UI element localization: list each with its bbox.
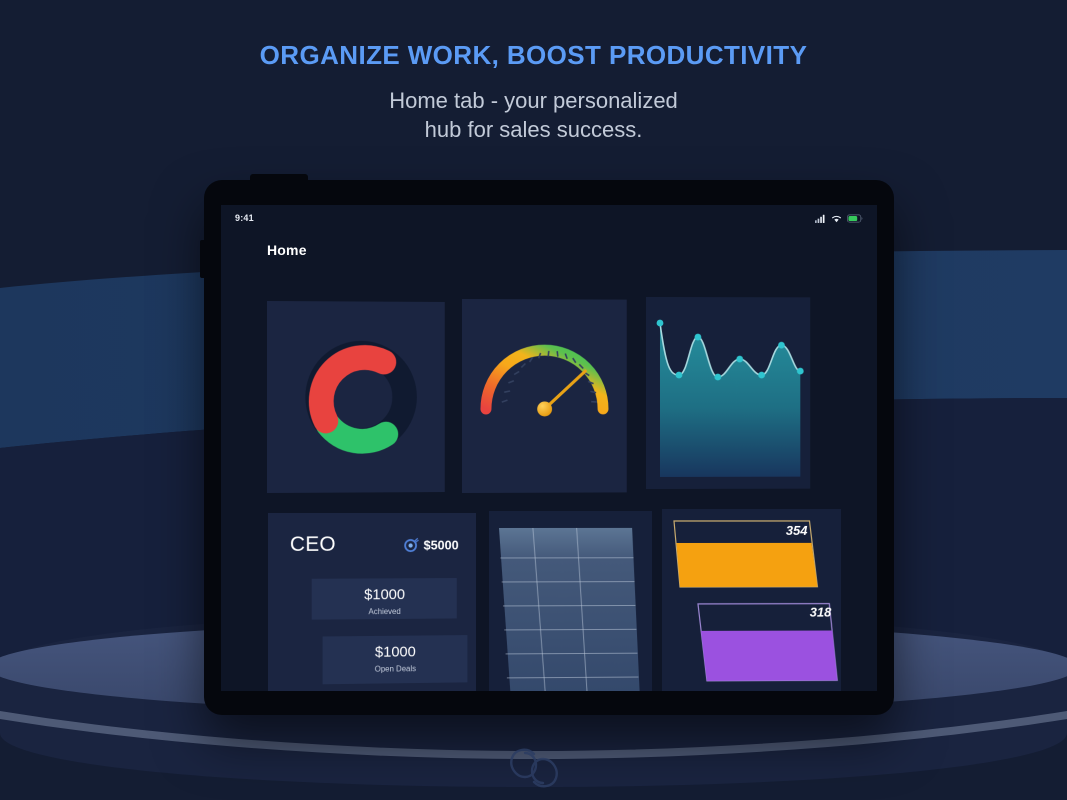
kpi-achieved-value: $1000 — [312, 587, 457, 604]
wifi-icon — [831, 214, 842, 223]
ceo-card-header: CEO $5000 — [290, 533, 459, 557]
gauge-band-arc — [486, 350, 603, 409]
funnel-bar-1-fill — [676, 543, 817, 587]
gauge-chart-card[interactable] — [462, 299, 627, 493]
funnel-chart — [662, 509, 841, 691]
ceo-target-value: $5000 — [424, 537, 459, 552]
tablet-screen: 9:41 — [221, 205, 877, 691]
funnel-bar-2-fill — [701, 631, 837, 681]
funnel-bar-1-value: 354 — [786, 523, 808, 538]
donut-segment-red — [321, 357, 384, 421]
data-table-card[interactable] — [489, 511, 652, 691]
tablet-device: 9:41 — [204, 180, 894, 715]
page-subtitle: Home tab - your personalized hub for sal… — [0, 87, 1067, 144]
subtitle-line-2: hub for sales success. — [0, 116, 1067, 145]
kpi-tile-open-deals[interactable]: $1000 Open Deals — [323, 635, 468, 684]
status-bar: 9:41 — [221, 205, 877, 231]
funnel-chart-card[interactable]: 354 318 — [662, 509, 841, 691]
ceo-role-label: CEO — [290, 533, 336, 557]
dashboard-grid: CEO $5000 $1000 — [221, 263, 877, 691]
area-chart — [646, 297, 810, 489]
funnel-bar-2-value: 318 — [810, 605, 832, 620]
donut-chart-card[interactable] — [267, 301, 445, 493]
gauge-needle — [545, 371, 586, 409]
kpi-achieved-label: Achieved — [312, 606, 457, 616]
data-table-grid — [489, 511, 652, 691]
gauge-chart — [462, 299, 627, 493]
headline-block: ORGANIZE WORK, BOOST PRODUCTIVITY Home t… — [0, 40, 1067, 144]
subtitle-line-1: Home tab - your personalized — [389, 88, 678, 113]
target-icon — [404, 537, 419, 552]
status-clock: 9:41 — [235, 213, 254, 223]
table-body — [499, 528, 640, 691]
tablet-camera-notch — [250, 174, 308, 184]
screen-title: Home — [267, 242, 307, 258]
tablet-side-button[interactable] — [200, 240, 205, 278]
kpi-open-value: $1000 — [323, 644, 468, 662]
ceo-kpi-card[interactable]: CEO $5000 $1000 — [268, 513, 476, 691]
kpi-tile-achieved[interactable]: $1000 Achieved — [312, 578, 457, 620]
zoho-loop-logo — [507, 745, 561, 791]
ceo-target-group: $5000 — [404, 537, 459, 552]
page-title: ORGANIZE WORK, BOOST PRODUCTIVITY — [0, 40, 1067, 71]
status-icon-group — [815, 214, 863, 223]
page-root: ORGANIZE WORK, BOOST PRODUCTIVITY Home t… — [0, 0, 1067, 800]
gauge-hub — [537, 401, 552, 416]
area-chart-card[interactable] — [646, 297, 810, 489]
donut-chart — [267, 301, 445, 493]
battery-icon — [847, 214, 863, 223]
kpi-open-label: Open Deals — [323, 663, 468, 674]
cellular-signal-icon — [815, 214, 826, 223]
